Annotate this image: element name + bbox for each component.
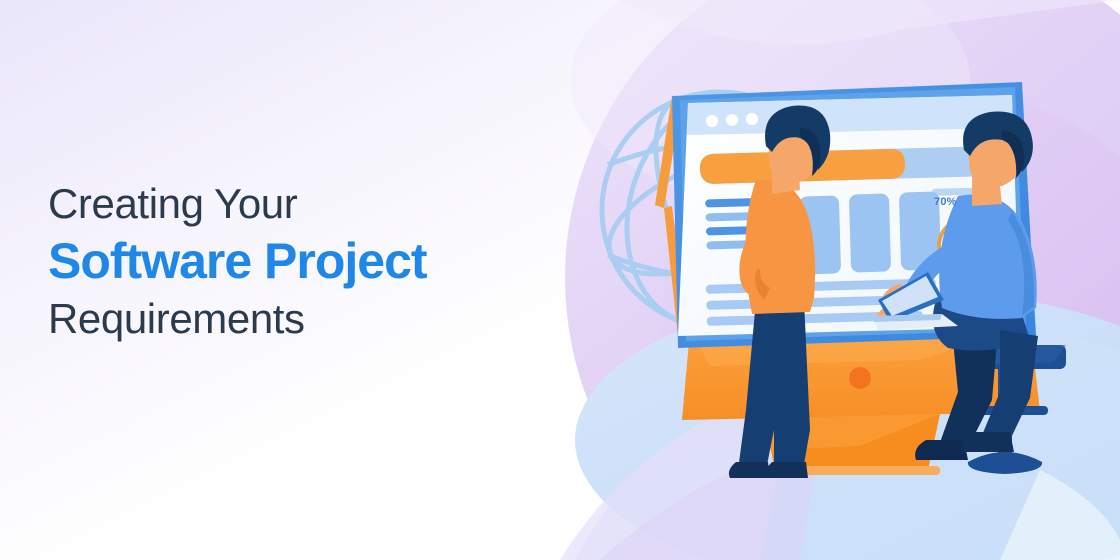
hero-banner: Creating Your Software Project Requireme… bbox=[0, 0, 1120, 560]
headline-line-3: Requirements bbox=[48, 292, 568, 346]
progress-percent-label: 70% bbox=[934, 196, 957, 208]
screen-content-blocks bbox=[799, 191, 941, 274]
headline-block: Creating Your Software Project Requireme… bbox=[48, 178, 568, 346]
monitor-power-led bbox=[849, 367, 871, 389]
hero-illustration bbox=[560, 0, 1120, 560]
headline-line-1: Creating Your bbox=[48, 178, 568, 230]
headline-line-2: Software Project bbox=[48, 230, 568, 292]
